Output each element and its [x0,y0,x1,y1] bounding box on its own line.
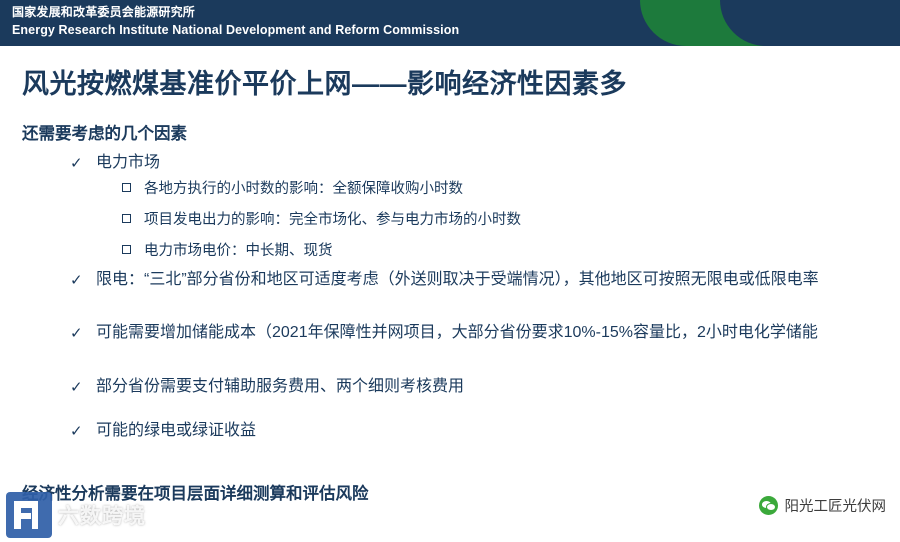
list-item-label: 可能的绿电或绿证收益 [96,418,870,443]
list-item: ✓ 限电：“三北”部分省份和地区可适度考虑（外送则取决于受端情况），其他地区可按… [70,267,870,292]
header-org-block: 国家发展和改革委员会能源研究所 Energy Research Institut… [12,4,459,39]
list-item-label: 限电：“三北”部分省份和地区可适度考虑（外送则取决于受端情况），其他地区可按照无… [96,267,870,292]
check-icon: ✓ [70,321,86,346]
header-green-accent [640,0,900,46]
list-item-label: 各地方执行的小时数的影响：全额保障收购小时数 [144,178,782,200]
list-item-label: 电力市场电价：中长期、现货 [144,240,782,262]
slide-header: 国家发展和改革委员会能源研究所 Energy Research Institut… [0,0,900,46]
list-item-label: 可能需要增加储能成本（2021年保障性并网项目，大部分省份要求10%-15%容量… [96,320,870,345]
watermark-left: 六数跨境 [6,490,176,538]
list-item: 各地方执行的小时数的影响：全额保障收购小时数 [122,178,782,200]
check-icon: ✓ [70,151,86,176]
brand-logo-icon [6,492,52,538]
list-item: 项目发电出力的影响：完全市场化、参与电力市场的小时数 [122,209,782,231]
list-item: ✓ 部分省份需要支付辅助服务费用、两个细则考核费用 [70,374,870,399]
square-bullet-icon [122,183,131,192]
list-item: ✓ 可能需要增加储能成本（2021年保障性并网项目，大部分省份要求10%-15%… [70,320,870,345]
check-icon: ✓ [70,419,86,444]
watermark-right-label: 阳光工匠光伏网 [785,495,887,516]
list-item: 电力市场电价：中长期、现货 [122,240,782,262]
watermark-right: 阳光工匠光伏网 [759,495,887,516]
watermark-left-label: 六数跨境 [58,500,146,530]
list-item-label: 部分省份需要支付辅助服务费用、两个细则考核费用 [96,374,870,399]
page-title: 风光按燃煤基准价平价上网——影响经济性因素多 [22,62,627,101]
section-lead: 还需要考虑的几个因素 [22,120,187,144]
list-item: ✓ 电力市场 [70,150,770,175]
square-bullet-icon [122,214,131,223]
check-icon: ✓ [70,375,86,400]
list-item-label: 电力市场 [96,150,770,175]
list-item: ✓ 可能的绿电或绿证收益 [70,418,870,443]
header-org-cn: 国家发展和改革委员会能源研究所 [12,4,459,21]
list-item-label: 项目发电出力的影响：完全市场化、参与电力市场的小时数 [144,209,782,231]
check-icon: ✓ [70,268,86,293]
square-bullet-icon [122,245,131,254]
wechat-icon [759,496,778,515]
header-green-accent-inner [720,0,900,46]
header-org-en: Energy Research Institute National Devel… [12,21,459,39]
